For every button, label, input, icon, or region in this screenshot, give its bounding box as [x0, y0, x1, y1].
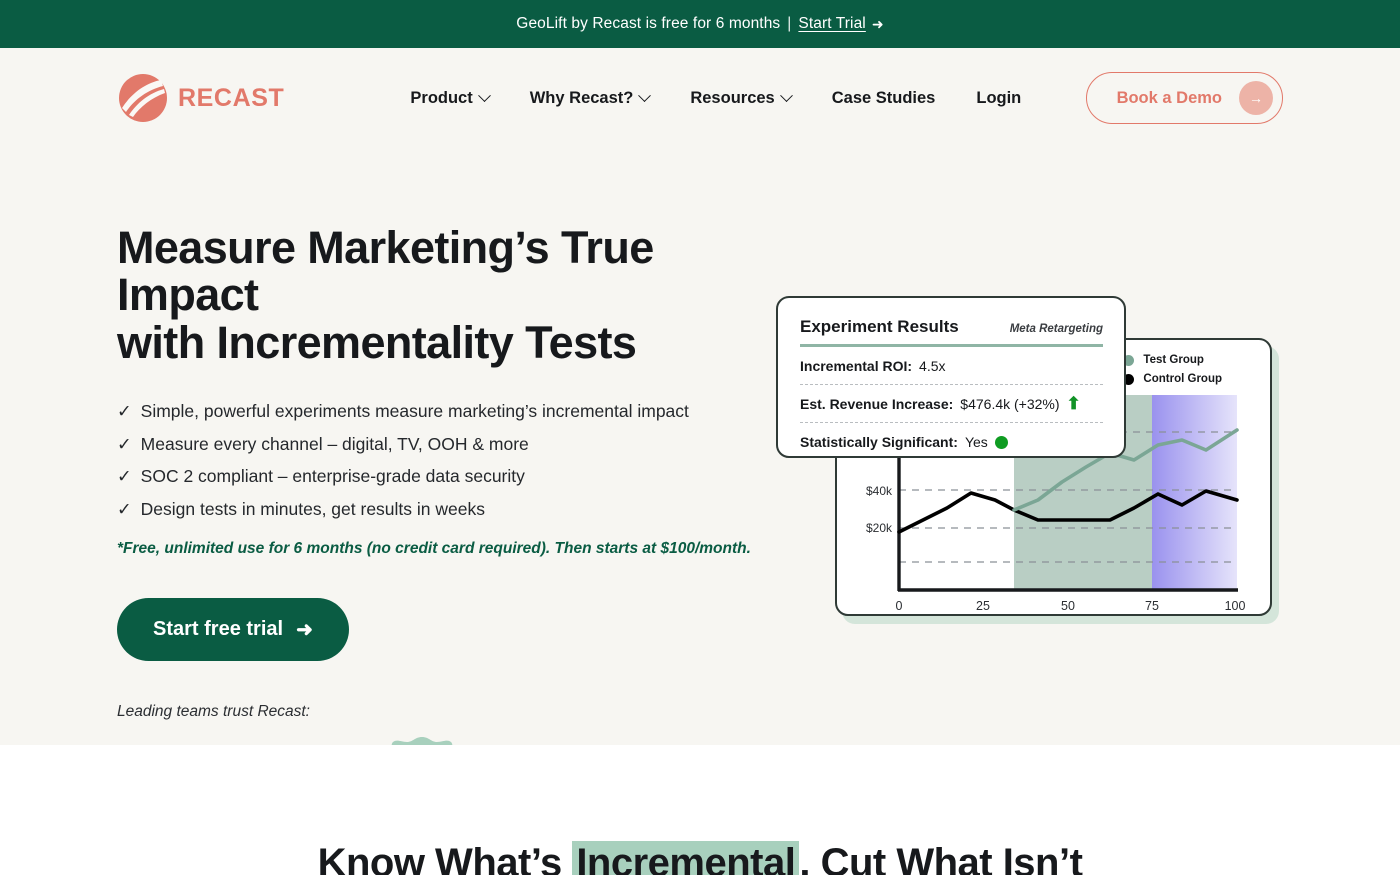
nav-item-resources[interactable]: Resources	[690, 89, 790, 108]
book-a-demo-label: Book a Demo	[1117, 89, 1222, 108]
check-icon: ✓	[117, 435, 132, 454]
hero-section: RECAST Product Why Recast? Resources Cas…	[0, 48, 1400, 745]
list-item-label: Measure every channel – digital, TV, OOH…	[141, 435, 529, 454]
nav-item-login[interactable]: Login	[976, 89, 1021, 108]
chevron-down-icon	[780, 89, 793, 102]
banner-start-trial-link[interactable]: Start Trial	[798, 15, 865, 33]
list-item: ✓ Measure every channel – digital, TV, O…	[117, 435, 757, 454]
metric-row-incremental-roi: Incremental ROI: 4.5x	[800, 347, 1103, 385]
arrow-right-icon: ➜	[872, 16, 884, 33]
logo[interactable]: RECAST	[117, 72, 284, 124]
chevron-down-icon	[478, 89, 491, 102]
trust-label: Leading teams trust Recast:	[117, 703, 757, 721]
value-prop-section: Know What’s Incremental. Cut What Isn’t	[0, 745, 1400, 875]
headline-line-1: Measure Marketing’s True Impact	[117, 222, 654, 320]
metric-label: Statistically Significant:	[800, 434, 958, 450]
banner-text: GeoLift by Recast is free for 6 months	[516, 15, 780, 33]
metric-label: Est. Revenue Increase:	[800, 396, 953, 412]
start-free-trial-label: Start free trial	[153, 618, 283, 641]
list-item-label: Design tests in minutes, get results in …	[141, 500, 485, 519]
arrow-right-icon: →	[1239, 81, 1273, 115]
metric-row-revenue-increase: Est. Revenue Increase: $476.4k (+32%) ⬆	[800, 385, 1103, 423]
x-tick-label: 100	[1225, 599, 1246, 613]
banner-separator: |	[787, 15, 791, 33]
results-card-subtitle: Meta Retargeting	[1010, 323, 1103, 335]
nav-links: Product Why Recast? Resources Case Studi…	[410, 89, 1021, 108]
main-navigation: RECAST Product Why Recast? Resources Cas…	[0, 48, 1400, 148]
check-icon: ✓	[117, 402, 132, 421]
list-item: ✓ SOC 2 compliant – enterprise-grade dat…	[117, 467, 757, 486]
hero-visual: Test Group Control Group	[770, 288, 1290, 628]
chart-x-tick-labels: 0 25 50 75 100	[896, 599, 1246, 613]
list-item: ✓ Design tests in minutes, get results i…	[117, 500, 757, 519]
nav-item-case-studies[interactable]: Case Studies	[832, 89, 936, 108]
announcement-banner: GeoLift by Recast is free for 6 months |…	[0, 0, 1400, 48]
metric-row-statistical-significance: Statistically Significant: Yes	[800, 423, 1103, 460]
check-icon: ✓	[117, 467, 132, 486]
results-card-title: Experiment Results	[800, 317, 959, 337]
start-free-trial-button[interactable]: Start free trial ➜	[117, 598, 349, 661]
page-title: Measure Marketing’s True Impact with Inc…	[117, 224, 757, 366]
x-tick-label: 0	[896, 599, 903, 613]
x-tick-label: 25	[976, 599, 990, 613]
headline-line-2: with Incrementality Tests	[117, 317, 636, 368]
list-item: ✓ Simple, powerful experiments measure m…	[117, 402, 757, 421]
section-heading: Know What’s Incremental. Cut What Isn’t	[0, 841, 1400, 875]
metric-value: $476.4k (+32%)	[960, 396, 1059, 412]
list-item-label: SOC 2 compliant – enterprise-grade data …	[141, 467, 525, 486]
y-tick-label: $20k	[866, 521, 893, 535]
section-heading-post: . Cut What Isn’t	[799, 841, 1082, 875]
y-tick-label: $40k	[866, 484, 893, 498]
x-tick-label: 75	[1145, 599, 1159, 613]
list-item-label: Simple, powerful experiments measure mar…	[141, 402, 689, 421]
feature-list: ✓ Simple, powerful experiments measure m…	[117, 402, 757, 520]
metric-label: Incremental ROI:	[800, 358, 912, 374]
results-card-header: Experiment Results Meta Retargeting	[800, 317, 1103, 347]
nav-item-resources-label: Resources	[690, 89, 774, 108]
chevron-down-icon	[638, 89, 651, 102]
section-heading-highlight: Incremental	[572, 841, 799, 875]
arrow-right-icon: ➜	[296, 617, 313, 642]
shaded-region-forecast-period	[1152, 395, 1237, 590]
experiment-results-card: Experiment Results Meta Retargeting Incr…	[776, 296, 1126, 458]
pricing-note: *Free, unlimited use for 6 months (no cr…	[117, 540, 757, 558]
nav-item-product-label: Product	[410, 89, 472, 108]
nav-item-product[interactable]: Product	[410, 89, 488, 108]
hero-content: Measure Marketing’s True Impact with Inc…	[117, 224, 757, 791]
logo-text: RECAST	[178, 84, 284, 113]
nav-item-login-label: Login	[976, 89, 1021, 108]
section-heading-pre: Know What’s	[318, 841, 573, 875]
recast-logo-icon	[117, 72, 169, 124]
check-icon: ✓	[117, 500, 132, 519]
metric-value: Yes	[965, 434, 988, 450]
status-badge-icon	[995, 436, 1008, 449]
nav-item-case-studies-label: Case Studies	[832, 89, 936, 108]
book-a-demo-button[interactable]: Book a Demo →	[1086, 72, 1283, 124]
nav-item-why-recast[interactable]: Why Recast?	[530, 89, 650, 108]
x-tick-label: 50	[1061, 599, 1075, 613]
nav-item-why-recast-label: Why Recast?	[530, 89, 634, 108]
metric-value: 4.5x	[919, 358, 945, 374]
